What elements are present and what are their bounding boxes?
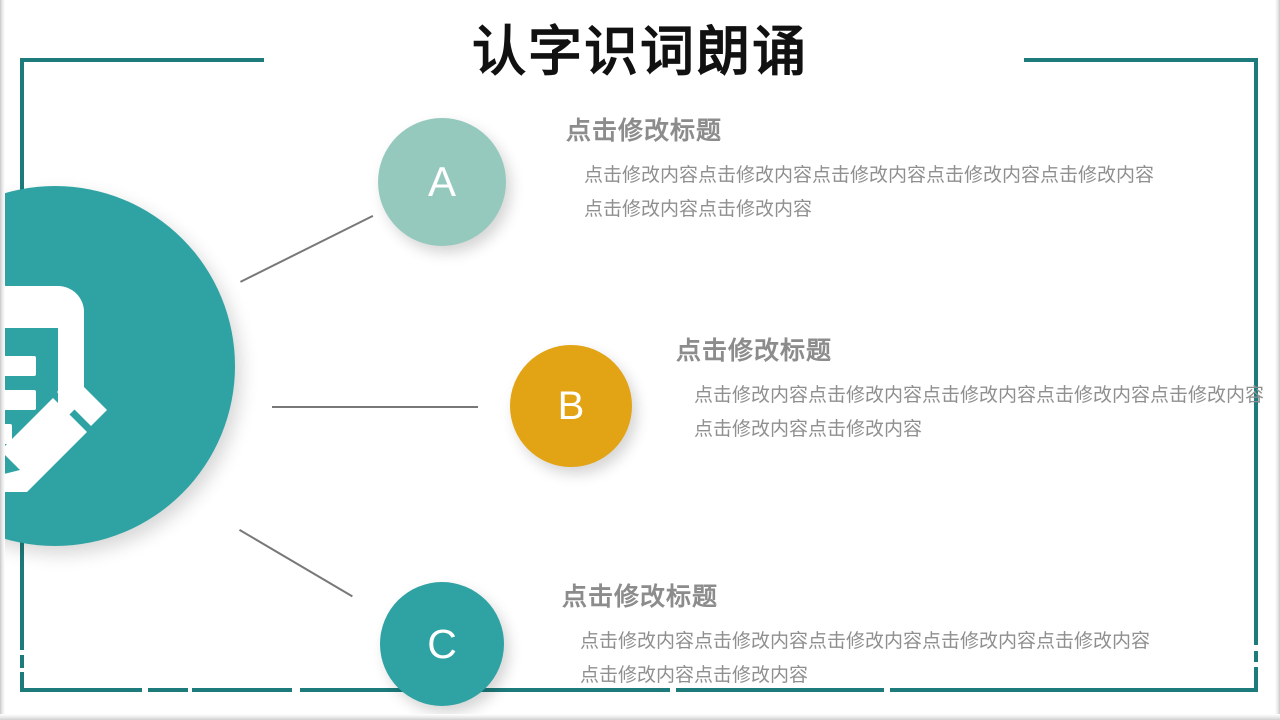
- section-marker-a[interactable]: A: [378, 118, 506, 246]
- frame-distress-nick: [1254, 662, 1258, 667]
- section-b-title[interactable]: 点击修改标题: [676, 336, 1276, 366]
- connector-line-a: [240, 215, 373, 283]
- frame-border-bottom-seg-3: [192, 688, 292, 692]
- section-marker-b[interactable]: B: [510, 345, 632, 467]
- frame-distress-nick: [1254, 645, 1258, 651]
- section-marker-a-label: A: [428, 158, 456, 206]
- frame-border-bottom-seg-1: [20, 688, 142, 692]
- section-b-body[interactable]: 点击修改内容点击修改内容点击修改内容点击修改内容点击修改内容点击修改内容点击修改…: [694, 378, 1276, 446]
- frame-border-bottom-seg-2: [148, 688, 188, 692]
- section-block-c: 点击修改标题 点击修改内容点击修改内容点击修改内容点击修改内容点击修改内容点击修…: [562, 582, 1162, 692]
- section-c-body[interactable]: 点击修改内容点击修改内容点击修改内容点击修改内容点击修改内容点击修改内容点击修改…: [580, 624, 1162, 692]
- page-edge-shadow-bottom: [0, 714, 1280, 720]
- section-block-a: 点击修改标题 点击修改内容点击修改内容点击修改内容点击修改内容点击修改内容点击修…: [566, 116, 1166, 226]
- section-marker-c[interactable]: C: [380, 582, 504, 706]
- slide-canvas: 认字识词朗诵 A B C 点击修改标题 点击修改内容点击修改内容点击修改内容点击…: [0, 0, 1280, 720]
- frame-distress-nick: [20, 668, 24, 672]
- page-title: 认字识词朗诵: [0, 20, 1280, 82]
- section-a-body[interactable]: 点击修改内容点击修改内容点击修改内容点击修改内容点击修改内容点击修改内容点击修改…: [584, 158, 1166, 226]
- section-block-b: 点击修改标题 点击修改内容点击修改内容点击修改内容点击修改内容点击修改内容点击修…: [676, 336, 1276, 446]
- section-marker-c-label: C: [427, 621, 457, 668]
- page-edge-shadow-left: [0, 0, 5, 720]
- page-edge-shadow-right: [1275, 0, 1280, 720]
- section-c-title[interactable]: 点击修改标题: [562, 582, 1162, 612]
- frame-distress-nick: [20, 650, 24, 655]
- section-marker-b-label: B: [558, 384, 585, 429]
- connector-line-c: [239, 529, 353, 597]
- connector-line-b: [272, 406, 478, 408]
- section-a-title[interactable]: 点击修改标题: [566, 116, 1166, 146]
- document-pencil-icon: [0, 252, 130, 492]
